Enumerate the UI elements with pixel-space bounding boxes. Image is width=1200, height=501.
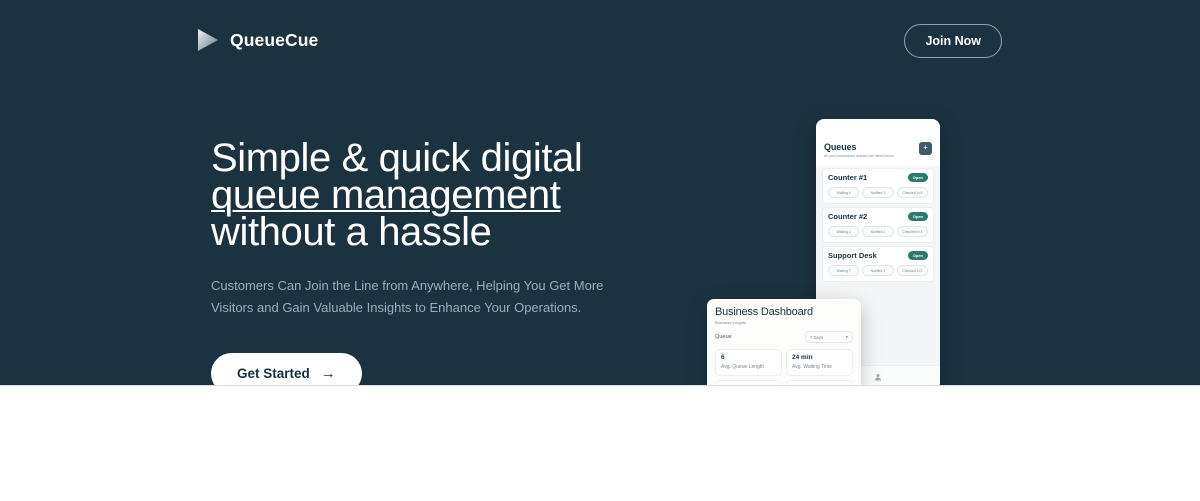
stat-label: Avg. Waiting Time (792, 364, 847, 370)
list-item[interactable]: Counter #2 Open Waiting 2 Notified 1 Che… (822, 207, 934, 243)
queue-pill-notified: Notified 1 (862, 187, 893, 198)
date-range-value: 7 Days (810, 335, 823, 340)
queue-pill-checkedin: Checked In 3 (897, 226, 928, 237)
queue-name: Support Desk (828, 251, 877, 260)
dashboard-stats-grid: 6 Avg. Queue Length 24 min Avg. Waiting … (715, 349, 853, 385)
subhead-line-2: and Gain Valuable Insights to Enhance Yo… (257, 300, 581, 315)
status-badge: Open (908, 212, 928, 221)
queue-card-header: Support Desk Open (828, 251, 928, 260)
get-started-label: Get Started (237, 366, 310, 381)
business-dashboard-card: Business Dashboard Business Insights Que… (707, 299, 861, 385)
headline-line-3: without a hassle (211, 210, 491, 254)
landing-page: QueueCue Join Now Simple & quick digital… (0, 0, 1200, 501)
queue-pill-notified: Notified 1 (862, 265, 893, 276)
join-now-button[interactable]: Join Now (904, 24, 1002, 58)
queue-card-header: Counter #1 Open (828, 173, 928, 182)
arrow-right-icon: → (321, 366, 336, 381)
queue-pill-waiting: Waiting 7 (828, 265, 859, 276)
section-divider (0, 385, 1200, 386)
hero-section: QueueCue Join Now Simple & quick digital… (0, 0, 1200, 385)
status-badge: Open (908, 251, 928, 260)
chevron-down-icon: ▾ (846, 335, 848, 339)
queue-name: Counter #2 (828, 212, 867, 221)
queue-name: Counter #1 (828, 173, 867, 182)
list-item[interactable]: Support Desk Open Waiting 7 Notified 1 C… (822, 246, 934, 282)
dashboard-filter-row: Queue 7 Days ▾ (715, 331, 853, 343)
queue-stat-pills: Waiting 4 Notified 1 Checked In 5 (828, 187, 928, 198)
brand-logo[interactable]: QueueCue (196, 27, 318, 53)
phone-header: Queues All your businesses queues are li… (816, 139, 940, 166)
queue-pill-checkedin: Checked In 2 (897, 265, 928, 276)
navbar: QueueCue Join Now (0, 0, 1200, 82)
stat-card-avg-queue-length: 6 Avg. Queue Length (715, 349, 782, 376)
add-queue-button[interactable]: + (919, 142, 932, 155)
phone-status-bar (816, 119, 940, 139)
queues-subtitle: All your businesses queues are listed be… (824, 154, 894, 159)
queue-stat-pills: Waiting 2 Notified 1 Checked In 3 (828, 226, 928, 237)
brand-name: QueueCue (230, 30, 318, 51)
list-item[interactable]: Counter #1 Open Waiting 4 Notified 1 Che… (822, 168, 934, 204)
get-started-button[interactable]: Get Started → (211, 353, 362, 385)
queues-title: Queues (824, 142, 894, 152)
person-icon[interactable] (874, 373, 882, 381)
queue-card-header: Counter #2 Open (828, 212, 928, 221)
queue-pill-waiting: Waiting 4 (828, 187, 859, 198)
filter-label-queue: Queue (715, 334, 732, 340)
page-title: Simple & quick digital queue management … (211, 140, 681, 251)
queue-pill-notified: Notified 1 (862, 226, 893, 237)
hero-copy: Simple & quick digital queue management … (211, 140, 681, 385)
date-range-select[interactable]: 7 Days ▾ (805, 331, 853, 343)
play-triangle-icon (196, 27, 220, 53)
hero-subheading: Customers Can Join the Line from Anywher… (211, 275, 636, 319)
stat-value: 24 min (792, 354, 847, 361)
stat-label: Avg. Queue Length (721, 364, 776, 370)
status-badge: Open (908, 173, 928, 182)
stat-card-avg-waiting-time: 24 min Avg. Waiting Time (786, 349, 853, 376)
stat-value: 6 (721, 354, 776, 361)
dashboard-subtitle: Business Insights (715, 320, 853, 325)
dashboard-title: Business Dashboard (715, 306, 853, 318)
queue-pill-waiting: Waiting 2 (828, 226, 859, 237)
queue-stat-pills: Waiting 7 Notified 1 Checked In 2 (828, 265, 928, 276)
queue-pill-checkedin: Checked In 5 (897, 187, 928, 198)
